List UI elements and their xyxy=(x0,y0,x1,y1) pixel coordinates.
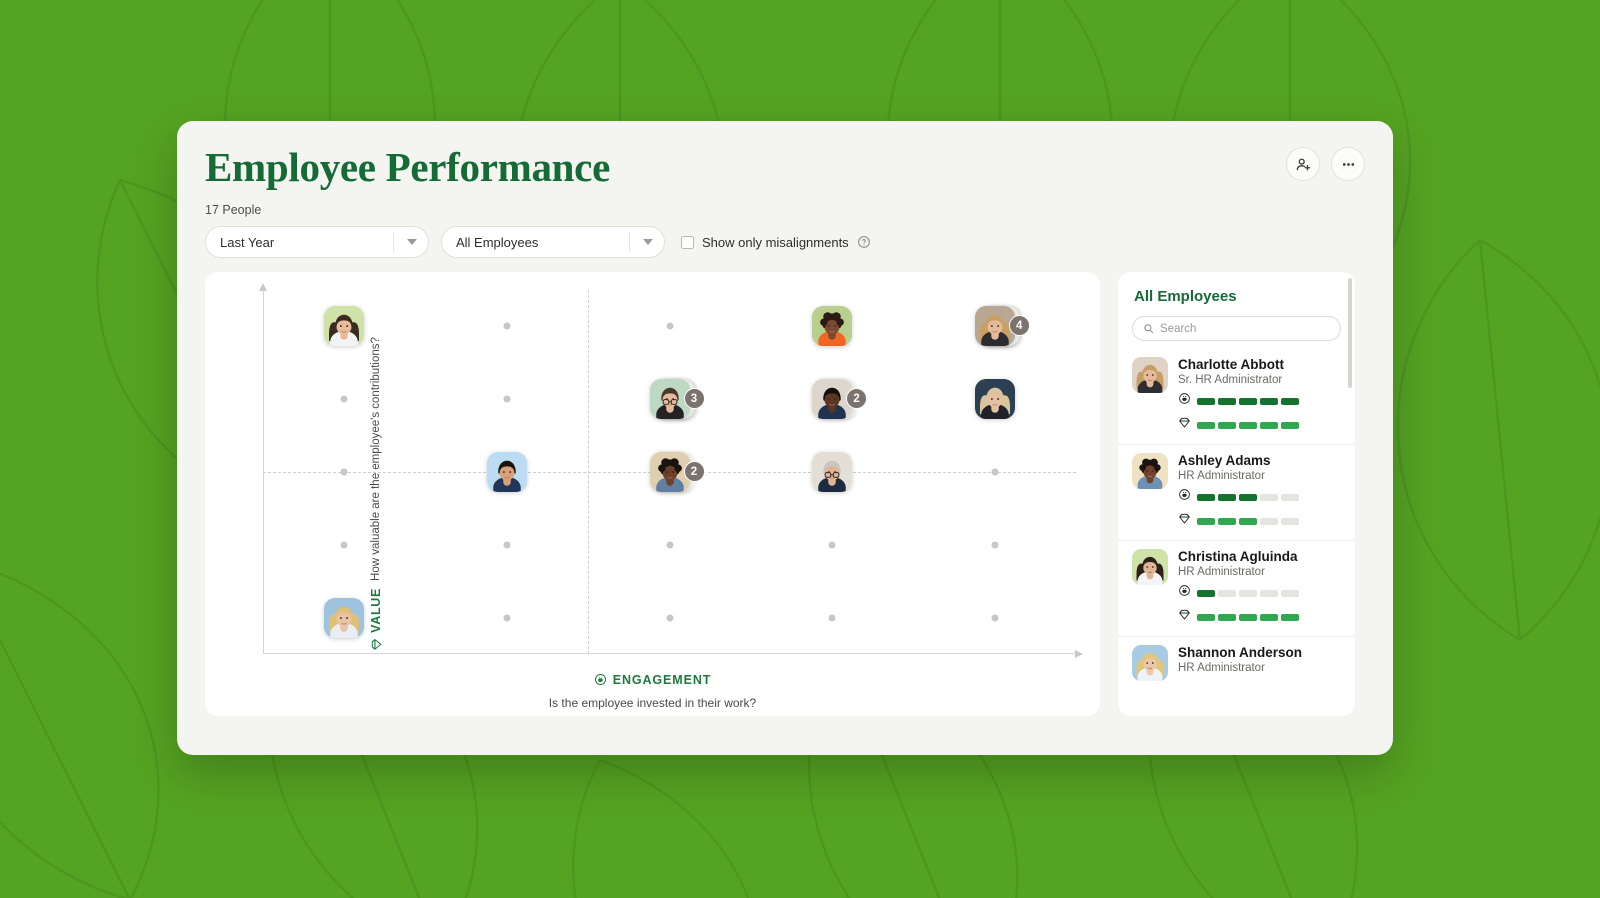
value-bars xyxy=(1197,614,1299,621)
meter-segment xyxy=(1197,590,1215,597)
all-employees-sidebar: All Employees Charlotte Abbott Sr. xyxy=(1118,272,1355,716)
filter-bar: Last Year All Employees Show only misali… xyxy=(205,226,1365,258)
employee-role: HR Administrator xyxy=(1178,566,1341,578)
question-circle-icon[interactable] xyxy=(857,235,871,249)
meter-segment xyxy=(1197,614,1215,621)
misalignments-filter: Show only misalignments xyxy=(681,235,871,250)
engagement-leaf-icon xyxy=(1178,488,1191,506)
chevron-down-icon xyxy=(643,239,653,245)
value-meter xyxy=(1178,608,1341,626)
value-gem-icon xyxy=(1178,608,1191,621)
value-meter xyxy=(1178,416,1341,434)
employee-name: Christina Agluinda xyxy=(1178,549,1341,565)
engagement-leaf-icon xyxy=(1178,584,1191,597)
point-count-badge: 2 xyxy=(684,461,705,482)
meter-segment xyxy=(1218,398,1236,405)
grid-dot xyxy=(341,469,348,476)
employee-plot-point[interactable] xyxy=(487,452,527,492)
employee-info: Charlotte Abbott Sr. HR Administrator xyxy=(1178,357,1341,434)
engagement-leaf-icon xyxy=(1178,392,1191,410)
employee-name: Ashley Adams xyxy=(1178,453,1341,469)
employee-list-item[interactable]: Christina Agluinda HR Administrator xyxy=(1118,540,1355,636)
employee-name: Shannon Anderson xyxy=(1178,645,1341,661)
ellipsis-icon xyxy=(1340,156,1357,173)
grid-dot xyxy=(991,469,998,476)
engagement-meter xyxy=(1178,392,1341,410)
avatar xyxy=(1132,453,1168,489)
engagement-bars xyxy=(1197,590,1299,597)
x-axis-label-group: ENGAGEMENT Is the employee invested in t… xyxy=(205,673,1100,711)
value-gem-icon xyxy=(1178,608,1191,626)
employee-role: HR Administrator xyxy=(1178,662,1341,674)
meter-segment xyxy=(1239,590,1257,597)
sidebar-scrollbar-track[interactable] xyxy=(1348,278,1352,710)
engagement-leaf-icon xyxy=(1178,488,1191,501)
engagement-leaf-icon xyxy=(1178,392,1191,405)
meter-segment xyxy=(1281,494,1299,501)
meter-segment xyxy=(1197,494,1215,501)
employee-list-item[interactable]: Charlotte Abbott Sr. HR Administrator xyxy=(1118,349,1355,444)
window-content: VALUE How valuable are the employee's co… xyxy=(177,272,1393,716)
point-count-badge: 2 xyxy=(846,388,867,409)
employee-plot-point[interactable] xyxy=(324,306,364,346)
employee-list: Charlotte Abbott Sr. HR Administrator xyxy=(1118,349,1355,691)
employee-plot-point[interactable]: 2 xyxy=(812,379,852,419)
people-count-label: 17 People xyxy=(205,203,1365,217)
grid-dot xyxy=(991,614,998,621)
meter-segment xyxy=(1281,422,1299,429)
engagement-meter xyxy=(1178,584,1341,602)
grid-dot xyxy=(503,541,510,548)
meter-segment xyxy=(1260,614,1278,621)
engagement-bars xyxy=(1197,398,1299,405)
more-options-button[interactable] xyxy=(1331,147,1365,181)
meter-segment xyxy=(1239,494,1257,501)
period-select[interactable]: Last Year xyxy=(205,226,429,258)
employee-plot-point[interactable] xyxy=(324,598,364,638)
avatar xyxy=(324,598,364,638)
header-actions xyxy=(1286,147,1365,181)
employee-performance-window: Employee Performance 17 People Last Year xyxy=(177,121,1393,755)
scope-select[interactable]: All Employees xyxy=(441,226,665,258)
divider xyxy=(393,232,394,252)
employee-info: Shannon Anderson HR Administrator xyxy=(1178,645,1341,681)
avatar xyxy=(487,452,527,492)
grid-dot xyxy=(666,541,673,548)
grid-dot xyxy=(666,614,673,621)
x-axis-title-group: ENGAGEMENT xyxy=(594,673,712,687)
avatar xyxy=(975,379,1015,419)
meter-segment xyxy=(1218,614,1236,621)
value-gem-icon xyxy=(1178,416,1191,434)
meter-segment xyxy=(1260,422,1278,429)
period-select-value: Last Year xyxy=(220,235,274,250)
meter-segment xyxy=(1281,590,1299,597)
search-box[interactable] xyxy=(1132,316,1341,341)
meter-segment xyxy=(1239,422,1257,429)
employee-list-item[interactable]: Ashley Adams HR Administrator xyxy=(1118,444,1355,540)
grid-dot xyxy=(341,541,348,548)
search-wrapper xyxy=(1118,316,1355,341)
add-person-icon xyxy=(1295,156,1312,173)
employee-role: HR Administrator xyxy=(1178,470,1341,482)
meter-segment xyxy=(1197,398,1215,405)
sidebar-title: All Employees xyxy=(1118,288,1355,305)
employee-plot-point[interactable]: 4 xyxy=(975,306,1015,346)
window-header: Employee Performance 17 People Last Year xyxy=(177,121,1393,258)
grid-dot xyxy=(829,614,836,621)
chevron-down-icon xyxy=(407,239,417,245)
avatar xyxy=(1132,549,1168,585)
meter-segment xyxy=(1281,518,1299,525)
meter-segment xyxy=(1218,422,1236,429)
meter-segment xyxy=(1260,590,1278,597)
employee-info: Ashley Adams HR Administrator xyxy=(1178,453,1341,530)
meter-segment xyxy=(1218,494,1236,501)
meter-segment xyxy=(1281,614,1299,621)
plot-area: 4 3 2 xyxy=(263,290,1076,654)
employee-plot-point[interactable] xyxy=(975,379,1015,419)
grid-dot xyxy=(829,541,836,548)
engagement-leaf-icon xyxy=(1178,584,1191,602)
engagement-meter xyxy=(1178,488,1341,506)
employee-plot-point[interactable]: 3 xyxy=(650,379,690,419)
avatar xyxy=(812,452,852,492)
grid-dot xyxy=(666,323,673,330)
show-misalignments-checkbox[interactable] xyxy=(681,236,694,249)
page-title: Employee Performance xyxy=(205,143,1365,191)
employee-info: Christina Agluinda HR Administrator xyxy=(1178,549,1341,626)
engagement-bars xyxy=(1197,494,1299,501)
value-gem-icon xyxy=(1178,512,1191,530)
value-bars xyxy=(1197,518,1299,525)
add-person-button[interactable] xyxy=(1286,147,1320,181)
employee-plot-point[interactable] xyxy=(812,306,852,346)
point-count-badge: 4 xyxy=(1009,315,1030,336)
value-bars xyxy=(1197,422,1299,429)
meter-segment xyxy=(1218,590,1236,597)
grid-dot xyxy=(341,396,348,403)
meter-segment xyxy=(1218,518,1236,525)
meter-segment xyxy=(1239,398,1257,405)
meter-segment xyxy=(1239,518,1257,525)
scope-select-value: All Employees xyxy=(456,235,538,250)
x-axis-title: ENGAGEMENT xyxy=(613,673,712,687)
meter-segment xyxy=(1281,398,1299,405)
meter-segment xyxy=(1260,494,1278,501)
sidebar-scrollbar-thumb[interactable] xyxy=(1348,278,1352,388)
value-meter xyxy=(1178,512,1341,530)
value-gem-icon xyxy=(1178,512,1191,525)
x-axis-sublabel: Is the employee invested in their work? xyxy=(205,696,1100,710)
point-count-badge: 3 xyxy=(684,388,705,409)
grid-dot xyxy=(991,541,998,548)
employee-role: Sr. HR Administrator xyxy=(1178,374,1341,386)
search-input[interactable] xyxy=(1160,323,1310,335)
performance-matrix-chart: VALUE How valuable are the employee's co… xyxy=(205,272,1100,716)
show-misalignments-label: Show only misalignments xyxy=(702,235,849,250)
employee-name: Charlotte Abbott xyxy=(1178,357,1341,373)
employee-plot-point[interactable]: 2 xyxy=(650,452,690,492)
x-axis-arrow xyxy=(1075,650,1083,658)
avatar xyxy=(812,306,852,346)
meter-segment xyxy=(1197,518,1215,525)
avatar xyxy=(1132,645,1168,681)
midline-vertical xyxy=(588,290,589,654)
grid-dot xyxy=(503,396,510,403)
meter-segment xyxy=(1239,614,1257,621)
grid-dot xyxy=(503,323,510,330)
engagement-leaf-icon xyxy=(594,673,607,686)
employee-list-item[interactable]: Shannon Anderson HR Administrator xyxy=(1118,636,1355,691)
value-gem-icon xyxy=(1178,416,1191,429)
meter-segment xyxy=(1197,422,1215,429)
grid-dot xyxy=(503,614,510,621)
employee-plot-point[interactable] xyxy=(812,452,852,492)
avatar xyxy=(1132,357,1168,393)
divider xyxy=(629,232,630,252)
meter-segment xyxy=(1260,518,1278,525)
avatar xyxy=(324,306,364,346)
meter-segment xyxy=(1260,398,1278,405)
search-icon xyxy=(1143,323,1154,334)
